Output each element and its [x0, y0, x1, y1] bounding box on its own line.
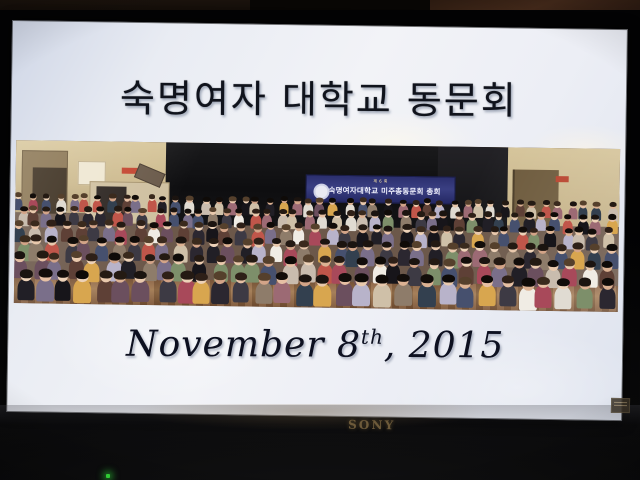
person-hair [479, 257, 490, 264]
banner-text: 숙명여자대학교 미주총동문회 총회 [328, 185, 450, 198]
person-hair [546, 226, 555, 232]
person-torso [336, 282, 354, 306]
person-hair [129, 236, 139, 243]
person [211, 272, 229, 304]
person-hair [359, 210, 367, 215]
person-hair [429, 225, 438, 231]
person-hair [334, 255, 346, 263]
person-hair [360, 198, 367, 203]
person-hair [537, 212, 545, 217]
person-hair [557, 244, 567, 251]
person-hair [144, 236, 154, 243]
person-hair [14, 220, 23, 226]
person-hair [403, 224, 412, 230]
person-hair [42, 206, 50, 212]
person-hair [461, 256, 472, 264]
person [296, 275, 314, 306]
person-hair [194, 222, 203, 228]
person-hair [209, 207, 217, 212]
person-hair [253, 223, 262, 229]
person-hair [78, 235, 88, 242]
person-hair [499, 226, 507, 232]
person-hair [424, 198, 431, 203]
person-hair [530, 258, 542, 266]
person-hair [186, 195, 193, 200]
person-torso [599, 287, 616, 309]
person-hair [299, 274, 312, 283]
person-hair [97, 237, 107, 244]
person-hair [220, 223, 229, 229]
person-hair [194, 209, 202, 215]
person-hair [371, 211, 379, 217]
person [54, 270, 71, 300]
person-hair [115, 236, 125, 243]
person-hair [382, 241, 392, 248]
person-hair [513, 257, 525, 265]
person-hair [525, 212, 533, 218]
person-hair [316, 198, 324, 203]
slide-title: 숙명여자 대학교 동문회 [11, 67, 627, 126]
person-hair [602, 278, 615, 287]
sony-logo: SONY [348, 418, 396, 433]
person-hair [232, 255, 243, 263]
person-hair [443, 258, 455, 266]
person-hair [443, 225, 451, 231]
person-hair [372, 224, 380, 230]
person [232, 273, 249, 303]
person-torso [535, 285, 552, 307]
person-hair [591, 214, 599, 219]
person [554, 279, 571, 310]
person-hair [63, 220, 72, 226]
person-hair [162, 271, 175, 280]
person-torso [479, 284, 496, 306]
person-hair [355, 273, 368, 282]
person-hair [318, 210, 326, 215]
person-hair [43, 194, 50, 199]
person-hair [29, 205, 37, 211]
person-hair [574, 227, 583, 233]
person-hair [251, 197, 258, 202]
person-hair [89, 220, 97, 226]
person [73, 271, 91, 303]
person-hair [430, 241, 440, 248]
person [456, 278, 473, 309]
person-hair [70, 206, 78, 211]
person-hair [114, 271, 127, 280]
person [193, 273, 210, 303]
person-hair [375, 274, 388, 283]
person-hair [517, 200, 524, 205]
slide-date-suffix: th [361, 325, 384, 349]
person-hair [192, 238, 202, 245]
person-hair [159, 196, 166, 201]
person-hair [184, 208, 192, 213]
person-hair [39, 269, 52, 278]
person-hair [252, 208, 260, 214]
person-hair [573, 243, 584, 250]
person-hair [459, 277, 472, 286]
person-hair [285, 240, 296, 247]
person-torso [373, 283, 391, 307]
person-hair [57, 206, 65, 211]
person [395, 274, 413, 305]
person-hair [78, 221, 87, 227]
person-hair [522, 278, 535, 287]
person-hair [518, 226, 527, 232]
person-hair [412, 241, 422, 248]
person-hair [579, 201, 586, 206]
person-hair [328, 222, 337, 228]
person-hair [459, 242, 469, 249]
person-hair [194, 255, 205, 262]
person-hair [589, 244, 599, 251]
person-hair [487, 200, 494, 205]
person-hair [605, 227, 613, 233]
person-hair [124, 206, 132, 211]
person-hair [525, 243, 535, 250]
person-hair [416, 226, 425, 232]
person-hair [363, 240, 374, 247]
person-hair [294, 197, 301, 202]
person [418, 275, 436, 307]
person-hair [57, 194, 64, 199]
person-torso [17, 278, 34, 301]
person-hair [428, 211, 436, 216]
person-hair [557, 278, 570, 287]
person-hair [216, 255, 227, 263]
person-hair [208, 221, 216, 227]
person-hair [551, 212, 559, 217]
person [36, 270, 54, 302]
person-hair [229, 196, 236, 201]
person-hair [109, 252, 121, 260]
person-hair [258, 272, 271, 281]
person-hair [254, 238, 264, 245]
person-torso [456, 285, 473, 308]
person-hair [481, 275, 493, 283]
person-hair [442, 274, 454, 282]
group-photo: 제 6 회 숙명여자대학교 미주총동문회 총회 [14, 140, 620, 312]
person-hair [593, 202, 601, 207]
person-hair [132, 195, 139, 200]
person-hair [20, 206, 28, 212]
person-hair [588, 229, 597, 235]
person-hair [338, 273, 351, 282]
person [352, 274, 370, 306]
person [440, 275, 457, 305]
person-hair [138, 208, 146, 214]
person-hair [502, 201, 509, 206]
person-hair [357, 257, 369, 265]
person-torso [159, 280, 176, 302]
person-hair [579, 278, 591, 286]
person-hair [288, 209, 296, 214]
person-hair [149, 194, 156, 199]
person-hair [163, 221, 172, 227]
person-hair [235, 208, 243, 213]
person-hair [20, 269, 33, 278]
person-hair [214, 271, 227, 280]
person-torso [296, 283, 314, 306]
person-hair [14, 251, 25, 258]
person-hair [123, 251, 134, 259]
person [131, 271, 149, 302]
person-hair [436, 200, 443, 205]
person-hair [47, 220, 56, 226]
person-hair [157, 208, 165, 213]
person-hair [145, 254, 156, 261]
person-torso [440, 283, 457, 305]
person-hair [464, 200, 471, 205]
person-hair [172, 196, 179, 201]
spec-sticker [611, 398, 630, 413]
person-hair [537, 277, 550, 286]
person-hair [97, 206, 105, 211]
person-hair [429, 258, 440, 266]
person-hair [303, 255, 314, 263]
person-hair [334, 210, 342, 215]
person-hair [511, 213, 519, 218]
person-torso [418, 284, 436, 308]
person-hair [299, 240, 309, 247]
person-hair [607, 244, 617, 251]
person [576, 279, 593, 309]
person-hair [31, 235, 42, 242]
person-hair [134, 270, 147, 279]
person-hair [157, 237, 167, 244]
person-hair [222, 237, 233, 244]
person-hair [80, 193, 87, 198]
person-hair [347, 241, 358, 248]
person-hair [180, 221, 188, 227]
person-hair [400, 241, 410, 248]
person-hair [375, 257, 386, 265]
person-hair [402, 210, 410, 216]
power-indicator-led[interactable] [106, 474, 110, 478]
person-hair [176, 237, 186, 244]
person-torso [131, 279, 149, 302]
person [544, 227, 556, 247]
person-hair [490, 243, 500, 250]
person-hair [76, 270, 89, 279]
person-hair [209, 238, 219, 245]
person-hair [99, 270, 112, 279]
person-hair [508, 243, 518, 250]
person-hair [368, 198, 375, 203]
person [336, 274, 354, 306]
person-hair [285, 256, 296, 264]
person-hair [216, 197, 223, 202]
person-hair [305, 198, 312, 203]
person-hair [173, 254, 184, 262]
person-hair [109, 194, 116, 199]
person-hair [71, 194, 78, 199]
slide-date-month-day: November 8 [126, 324, 361, 366]
person-torso [554, 287, 571, 310]
person-hair [236, 223, 245, 229]
person-hair [413, 200, 420, 205]
person-torso [576, 286, 593, 308]
person-torso [256, 281, 273, 304]
person-torso [54, 278, 71, 300]
scene-photograph: 숙명여자 대학교 동문회 제 6 회 숙명여자대학교 미주총동문회 총회 Nov [0, 0, 640, 480]
person-hair [263, 209, 271, 214]
person [373, 275, 391, 307]
person-torso [211, 280, 229, 304]
person-hair [528, 201, 535, 206]
person-hair [340, 225, 349, 231]
person-hair [538, 244, 548, 251]
person-hair [275, 272, 288, 281]
person-hair [30, 221, 39, 227]
person-hair [570, 202, 577, 207]
person-hair [383, 226, 392, 232]
person-hair [547, 260, 559, 268]
person-hair [294, 222, 303, 228]
person-hair [137, 220, 146, 226]
person-hair [114, 206, 122, 212]
person-hair [47, 236, 57, 243]
person-hair [311, 224, 320, 230]
person-hair [267, 198, 274, 203]
person-hair [564, 214, 572, 219]
person-hair [223, 208, 231, 213]
crowd-of-attendees [14, 192, 620, 312]
person-torso [395, 283, 413, 306]
person-hair [601, 260, 613, 268]
person-torso [111, 280, 129, 303]
person-torso [273, 281, 290, 304]
person-hair [397, 274, 410, 283]
person-hair [358, 224, 367, 230]
person-hair [105, 220, 114, 226]
person-hair [30, 194, 37, 199]
person [273, 273, 291, 304]
person [159, 272, 176, 302]
person-hair [609, 202, 617, 207]
person-hair [282, 224, 291, 230]
person-hair [388, 256, 399, 263]
person-hair [319, 255, 331, 263]
person-hair [150, 222, 159, 228]
person-hair [409, 258, 420, 266]
person [479, 276, 496, 306]
person [599, 279, 616, 309]
person-hair [246, 254, 258, 262]
person-hair [203, 196, 210, 201]
person [256, 273, 273, 303]
person-hair [455, 226, 463, 232]
slide-date-year: , 2015 [384, 325, 505, 367]
person-torso [193, 281, 210, 304]
person-hair [494, 258, 506, 266]
person-hair [609, 214, 617, 219]
person-hair [580, 214, 588, 219]
person-hair [86, 254, 98, 262]
slide-date: November 8th, 2015 [7, 323, 623, 367]
person [17, 270, 34, 301]
person-torso [499, 284, 516, 307]
person-torso [352, 283, 370, 307]
person-hair [451, 200, 458, 205]
person-hair [421, 274, 434, 283]
person [111, 272, 129, 303]
person-hair [170, 207, 178, 212]
person-hair [495, 212, 503, 217]
person [499, 276, 516, 307]
person-hair [474, 226, 483, 232]
person-hair [385, 199, 392, 204]
person-hair [159, 253, 170, 260]
person-torso [232, 281, 249, 303]
person-hair [329, 198, 336, 203]
person-hair [474, 199, 481, 204]
person-hair [543, 200, 550, 205]
person-hair [49, 253, 60, 260]
person-hair [306, 210, 314, 215]
person-hair [266, 222, 275, 228]
person [535, 277, 552, 307]
person-torso [36, 278, 54, 302]
person-torso [313, 284, 331, 307]
person-hair [94, 195, 101, 200]
television-screen[interactable]: 숙명여자 대학교 동문회 제 6 회 숙명여자대학교 미주총동문회 총회 Nov [6, 20, 628, 421]
person-hair [263, 256, 275, 264]
person-hair [456, 212, 464, 217]
person-torso [73, 279, 91, 303]
person-hair [117, 222, 126, 228]
person-hair [439, 211, 447, 216]
person [313, 276, 331, 307]
person-hair [235, 272, 247, 280]
person-hair [475, 241, 486, 248]
person-hair [554, 201, 561, 206]
person-hair [502, 275, 515, 284]
person-hair [400, 199, 407, 204]
person-hair [195, 272, 208, 281]
person-hair [15, 192, 22, 197]
person-hair [316, 275, 329, 284]
exit-sign [556, 176, 569, 182]
person-hair [281, 196, 288, 201]
